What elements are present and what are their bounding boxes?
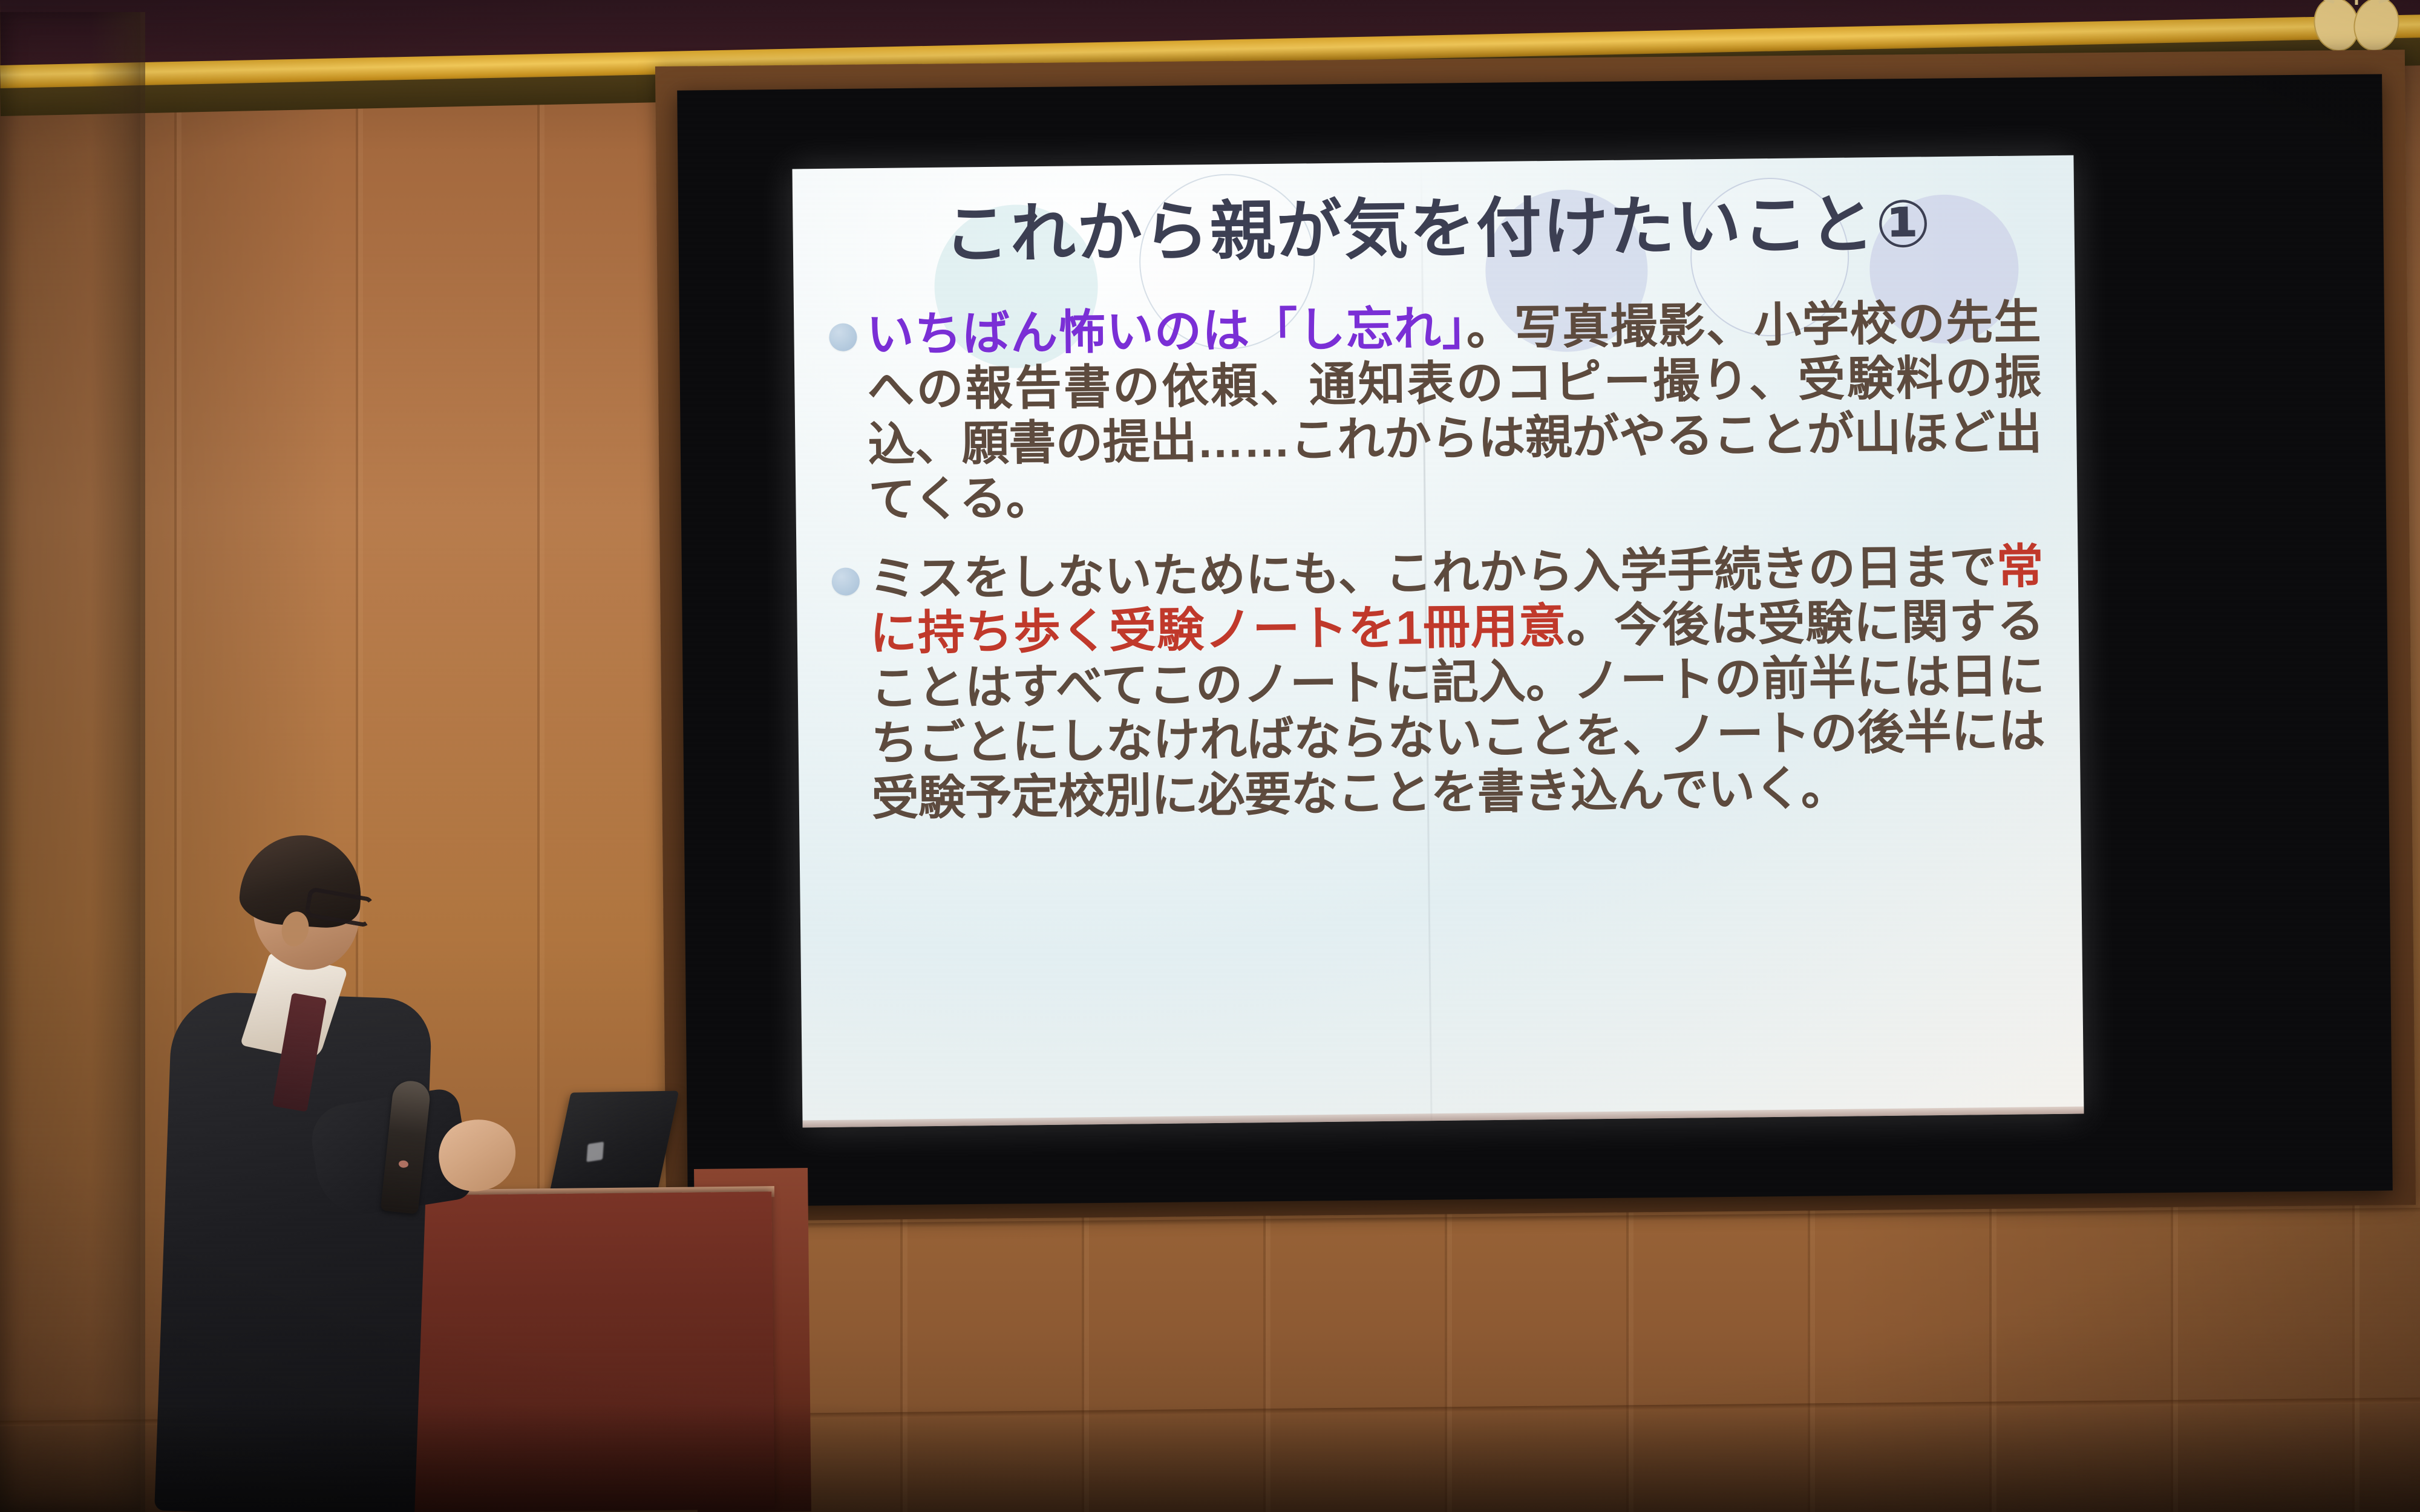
gold-ceiling-ornament-icon [2299,0,2414,51]
bullet-item-1: いちばん怖いのは「し忘れ」。写真撮影、小学校の先生への報告書の依頼、通知表のコピ… [829,295,2042,527]
presenter [163,844,454,1512]
bullet-text-2: ミスをしないためにも、これから入学手続きの日まで常に持ち歩く受験ノートを1冊用意… [869,539,2046,826]
slide-title: これから親が気を付けたいこと① [828,189,2039,269]
bullet-text-1: いちばん怖いのは「し忘れ」。写真撮影、小学校の先生への報告書の依頼、通知表のコピ… [866,295,2042,527]
circle-bullet-icon [829,324,857,351]
laptop-logo-icon [586,1142,604,1162]
bullet-item-2: ミスをしないためにも、これから入学手続きの日まで常に持ち歩く受験ノートを1冊用意… [831,539,2046,827]
microphone-indicator-icon [398,1160,408,1168]
slide-bullet-list: いちばん怖いのは「し忘れ」。写真撮影、小学校の先生への報告書の依頼、通知表のコピ… [829,295,2046,826]
presentation-slide: これから親が気を付けたいこと① いちばん怖いのは「し忘れ」。写真撮影、小学校の先… [792,155,2084,1128]
circle-bullet-icon [832,567,860,595]
projection-screen: これから親が気を付けたいこと① いちばん怖いのは「し忘れ」。写真撮影、小学校の先… [792,155,2084,1128]
presentation-scene-photo: これから親が気を付けたいこと① いちばん怖いのは「し忘れ」。写真撮影、小学校の先… [0,0,2420,1512]
text-run-purple: いちばん怖いのは「し忘れ」 [866,302,1467,362]
text-run-normal: ミスをしないためにも、これから入学手続きの日まで [869,540,1996,605]
curtain-shadow-edge [91,12,145,1512]
